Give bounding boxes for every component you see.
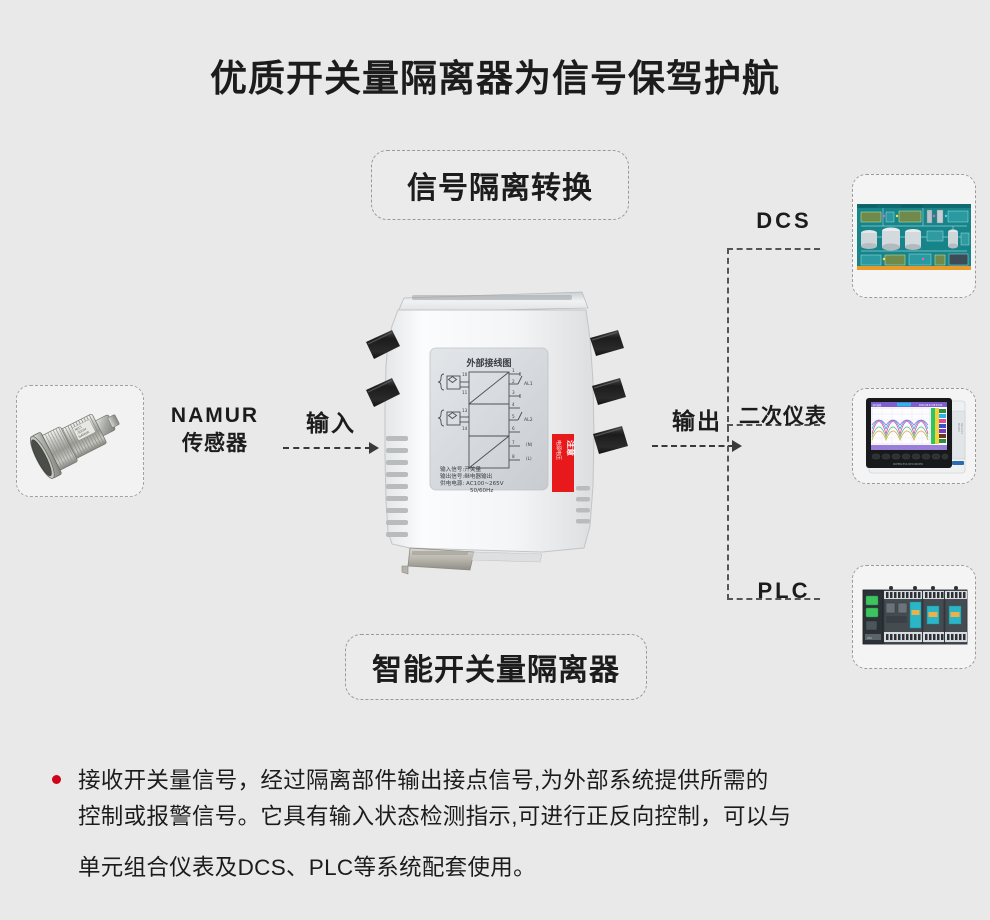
sensor-name-cn: 传感器: [155, 430, 275, 458]
page-title: 优质开关量隔离器为信号保驾护航: [0, 48, 990, 102]
plc-card: CPU: [852, 565, 976, 669]
svg-text:2: 2: [512, 379, 515, 384]
svg-text:注意: 注意: [566, 440, 576, 456]
paperless-recorder-icon: MODEL SN 0001 实时曲线 2024-06-01 08:30:00: [853, 389, 975, 483]
description-text: 接收开关量信号，经过隔离部件输出接点信号,为外部系统提供所需的 控制或报警信号。…: [78, 763, 952, 886]
vent-slots-left: [386, 436, 408, 537]
svg-text:8: 8: [512, 454, 515, 459]
switch-isolator-device: 外部接线图: [352, 286, 634, 586]
branch-label-dcs: DCS: [740, 208, 828, 234]
svg-text:外部接线图: 外部接线图: [465, 357, 511, 369]
svg-text:6: 6: [512, 426, 515, 431]
svg-text:(N): (N): [526, 442, 533, 447]
dcs-scada-screen-icon: [853, 175, 975, 297]
infographic-page: 优质开关量隔离器为信号保驾护航 信号隔离转换 智能开关量隔离器: [0, 0, 990, 920]
badge-smart-switch-isolator: 智能开关量隔离器: [345, 634, 647, 700]
svg-text:14: 14: [462, 426, 468, 431]
wiring-diagram-plate: 外部接线图: [430, 348, 548, 494]
right-terminal-blocks: [590, 330, 628, 454]
description-block: 接收开关量信号，经过隔离部件输出接点信号,为外部系统提供所需的 控制或报警信号。…: [52, 763, 952, 886]
svg-text:5: 5: [512, 414, 515, 419]
description-line-1: 接收开关量信号，经过隔离部件输出接点信号,为外部系统提供所需的: [78, 763, 952, 799]
proximity-sensor-icon: NJ15 -30GM NAMUR: [17, 386, 143, 496]
description-line-3: 单元组合仪表及DCS、PLC等系统配套使用。: [78, 850, 952, 886]
bullet-icon: [52, 775, 61, 784]
svg-text:10: 10: [462, 372, 468, 377]
namur-sensor-card: NJ15 -30GM NAMUR: [16, 385, 144, 497]
svg-text:输出信号:继电器输出: 输出信号:继电器输出: [440, 472, 492, 480]
svg-text:输入信号:开关量: 输入信号:开关量: [440, 465, 481, 473]
description-line-2: 控制或报警信号。它具有输入状态检测指示,可进行正反向控制，可以与: [78, 799, 952, 835]
svg-text:电源电压: 电源电压: [555, 440, 562, 460]
svg-text:实时曲线: 实时曲线: [873, 403, 883, 407]
svg-text:(L): (L): [526, 456, 532, 461]
svg-text:AL2: AL2: [524, 417, 533, 423]
svg-text:2024-06-01 08:30:00: 2024-06-01 08:30:00: [919, 404, 943, 407]
isolator-module-icon: 外部接线图: [352, 286, 634, 586]
svg-text:3: 3: [512, 390, 515, 395]
badge-bottom-label: 智能开关量隔离器: [372, 645, 620, 689]
svg-text:供电电源: AC100~265V: 供电电源: AC100~265V: [440, 479, 504, 487]
warning-label: 注意 电源电压: [552, 434, 576, 492]
svg-text:PAPERLESS RECORDER: PAPERLESS RECORDER: [893, 462, 923, 466]
secondary-instrument-card: MODEL SN 0001 实时曲线 2024-06-01 08:30:00: [852, 388, 976, 484]
branch-label-secondary-instrument: 二次仪表: [733, 400, 833, 430]
svg-text:13: 13: [462, 408, 468, 413]
svg-text:50/60Hz: 50/60Hz: [470, 488, 493, 494]
branch-label-plc: PLC: [740, 578, 828, 604]
svg-text:AL1: AL1: [524, 381, 533, 387]
svg-text:CPU: CPU: [867, 637, 872, 640]
din-rail-clip: [402, 548, 542, 574]
badge-signal-isolation-conversion: 信号隔离转换: [371, 150, 629, 220]
svg-text:7: 7: [512, 440, 515, 445]
branch-line-dcs: [727, 248, 820, 250]
badge-top-label: 信号隔离转换: [407, 163, 593, 207]
namur-sensor-label: NAMUR 传感器: [155, 402, 275, 459]
sensor-name-en: NAMUR: [155, 402, 275, 430]
svg-text:1: 1: [512, 368, 515, 373]
plc-rack-icon: CPU: [853, 566, 975, 668]
svg-text:SN 0001: SN 0001: [960, 423, 964, 434]
dcs-card: [852, 174, 976, 298]
svg-text:11: 11: [462, 390, 468, 395]
svg-text:4: 4: [512, 402, 515, 407]
